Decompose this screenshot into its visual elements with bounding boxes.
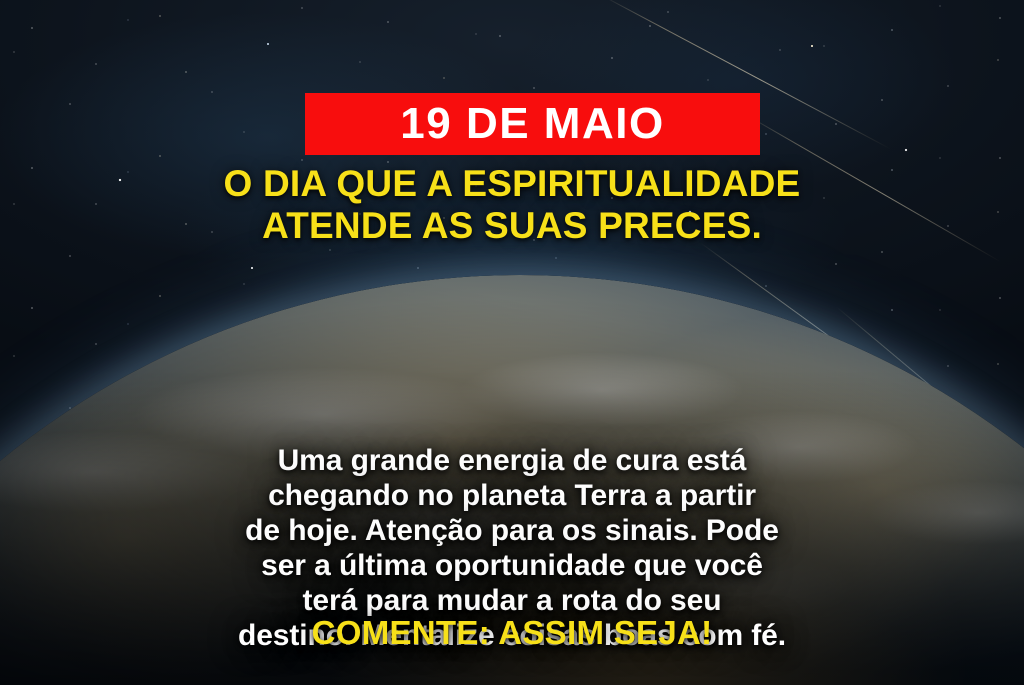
headline-line-1: O DIA QUE A ESPIRITUALIDADE	[0, 163, 1024, 205]
body-line-4: ser a última oportunidade que você	[0, 548, 1024, 583]
call-to-action-text: COMENTE: ASSIM SEJA!	[0, 616, 1024, 649]
date-banner-label: 19 DE MAIO	[400, 102, 664, 146]
date-banner: 19 DE MAIO	[305, 93, 760, 155]
body-line-3: de hoje. Atenção para os sinais. Pode	[0, 513, 1024, 548]
headline: O DIA QUE A ESPIRITUALIDADE ATENDE AS SU…	[0, 163, 1024, 247]
body-line-1: Uma grande energia de cura está	[0, 443, 1024, 478]
headline-line-2: ATENDE AS SUAS PRECES.	[0, 205, 1024, 247]
poster-canvas: 19 DE MAIO O DIA QUE A ESPIRITUALIDADE A…	[0, 0, 1024, 685]
poster-content: 19 DE MAIO O DIA QUE A ESPIRITUALIDADE A…	[0, 0, 1024, 685]
body-line-2: chegando no planeta Terra a partir	[0, 478, 1024, 513]
